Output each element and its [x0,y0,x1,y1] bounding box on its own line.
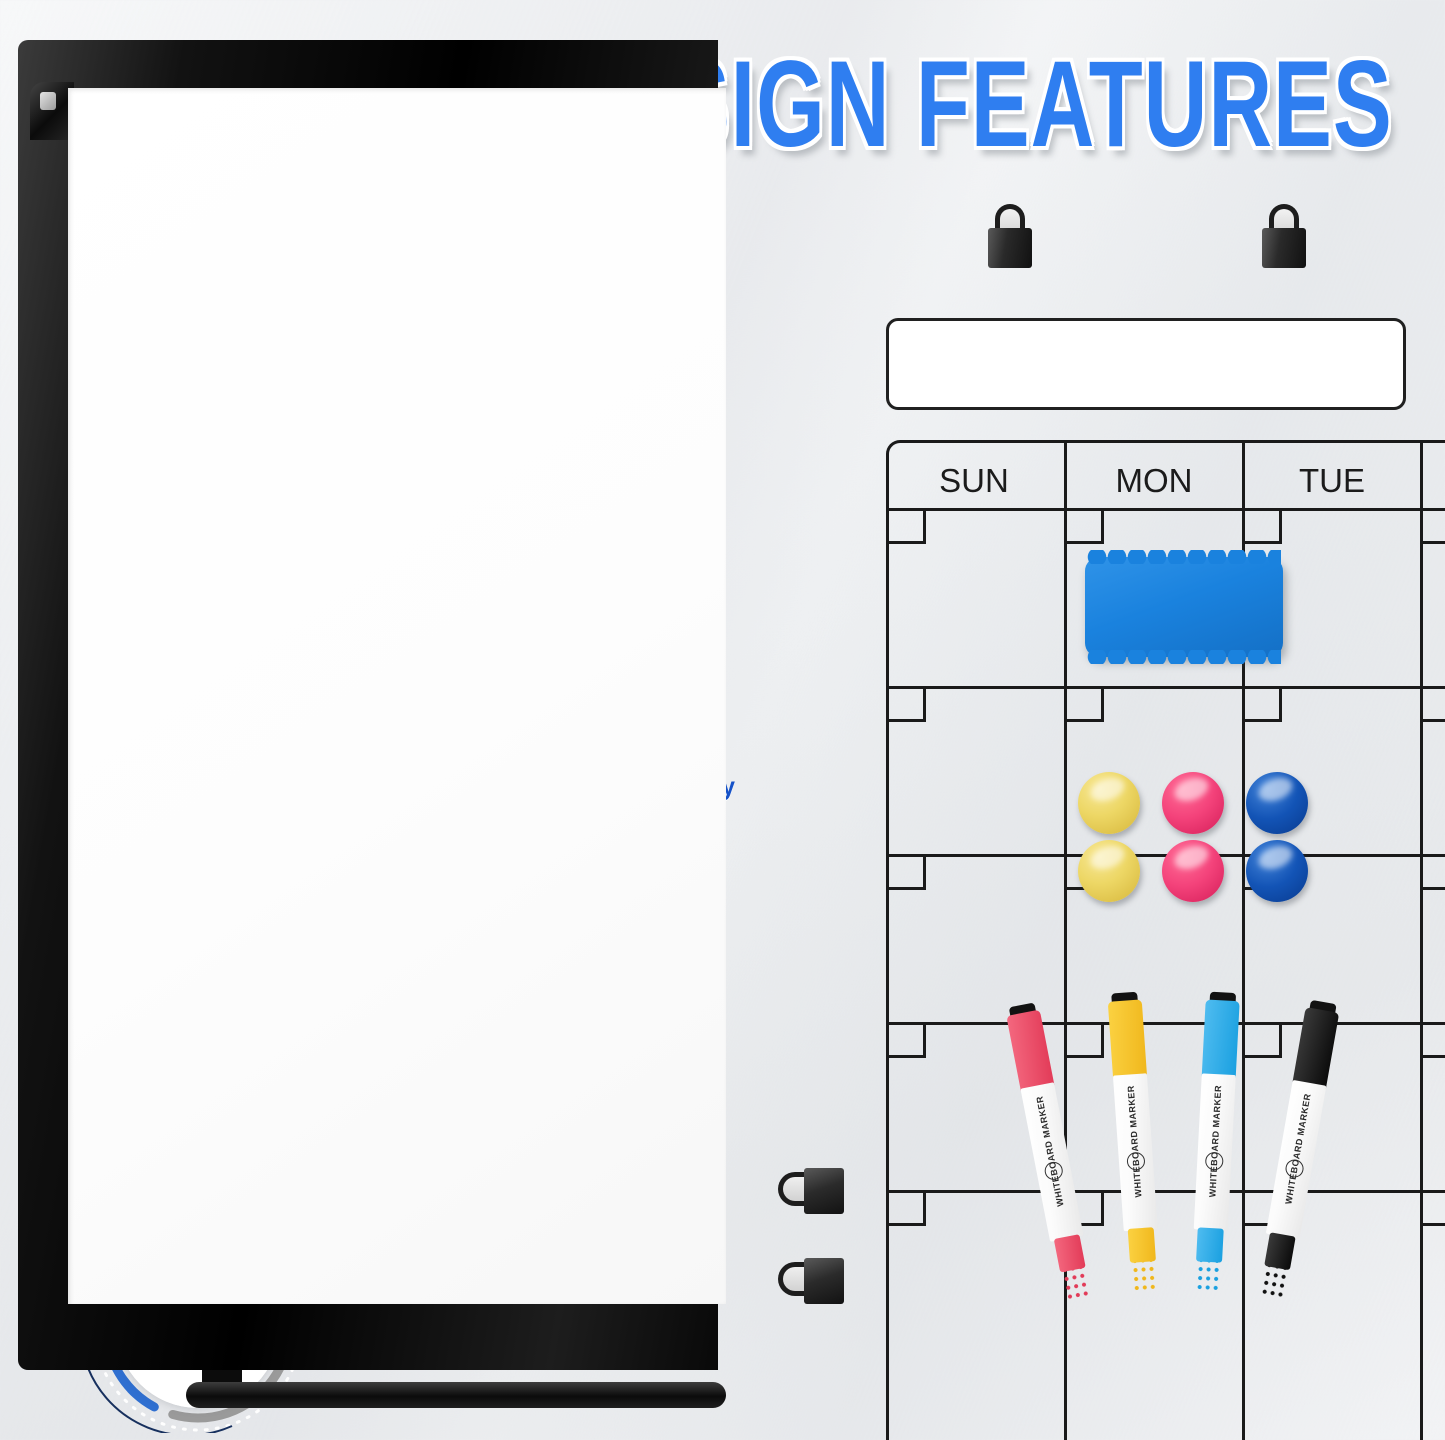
grid-line [1420,440,1423,1440]
calendar-date-box[interactable] [1242,686,1282,722]
yellow-magnet[interactable] [1078,840,1140,902]
calendar-date-box[interactable] [1064,508,1104,544]
marker-nib [1196,1227,1224,1262]
calendar-day-header: MON [1066,462,1242,500]
hook-clip [804,1258,844,1304]
side-hook[interactable] [778,1258,840,1306]
marker-cap [1202,999,1240,1079]
marker-label: WHITEBOARD MARKER [1282,1088,1313,1210]
yellow-marker[interactable]: WHITEBOARD MARKER [1108,999,1160,1263]
whiteboard-surface[interactable] [68,88,726,1304]
grid-line [886,686,1445,689]
calendar-day-header: TUE [1244,462,1420,500]
calendar-date-box[interactable] [1420,1022,1445,1058]
grid-line [886,508,1445,511]
calendar-title-box[interactable] [886,318,1406,410]
blue-magnet[interactable] [1246,772,1308,834]
pen-tray [186,1382,726,1408]
calendar-date-box[interactable] [1420,508,1445,544]
calendar-date-box[interactable] [1420,1190,1445,1226]
marker-barrel: WHITEBOARD MARKER [1266,1080,1327,1240]
yellow-magnet[interactable] [1078,772,1140,834]
calendar-date-box[interactable] [886,854,926,890]
pink-magnet[interactable] [1162,840,1224,902]
hook-clip [804,1168,844,1214]
marker-set: WHITEBOARD MARKER WHITEBOARD MARKER [1042,1000,1332,1280]
magnetic-eraser[interactable] [1085,557,1283,657]
marker-nib [1054,1234,1086,1272]
marker-barrel: WHITEBOARD MARKER [1194,1073,1236,1231]
top-hook[interactable] [1262,204,1306,266]
calendar-date-box[interactable] [1420,686,1445,722]
hook-clip [1262,228,1306,268]
marker-label: WHITEBOARD MARKER [1207,1080,1223,1202]
marker-nib [1264,1232,1296,1270]
marker-cap [1108,999,1147,1079]
calendar-date-box[interactable] [1242,508,1282,544]
blue-magnet[interactable] [1246,840,1308,902]
side-hook[interactable] [778,1168,840,1216]
pink-magnet[interactable] [1162,772,1224,834]
infographic-canvas: PRODUCT DESIGN FEATURES [0,0,1445,1440]
calendar-date-box[interactable] [1420,854,1445,890]
marker-barrel: WHITEBOARD MARKER [1113,1073,1158,1231]
blue-marker[interactable]: WHITEBOARD MARKER [1192,999,1240,1262]
calendar-date-box[interactable] [886,686,926,722]
black-marker[interactable]: WHITEBOARD MARKER [1260,1007,1339,1271]
calendar-date-box[interactable] [886,1190,926,1226]
marker-nib [1128,1227,1156,1263]
marker-label: WHITEBOARD MARKER [1125,1080,1143,1202]
whiteboard-frame [18,40,718,1370]
calendar-date-box[interactable] [1064,686,1104,722]
calendar-day-header: SUN [886,462,1062,500]
hook-clip [988,228,1032,268]
board-magnet-group [1078,772,1308,902]
calendar-date-box[interactable] [886,508,926,544]
top-hook[interactable] [988,204,1032,266]
product-photo: SUN MON TUE [0,0,1445,1440]
calendar-date-box[interactable] [886,1022,926,1058]
